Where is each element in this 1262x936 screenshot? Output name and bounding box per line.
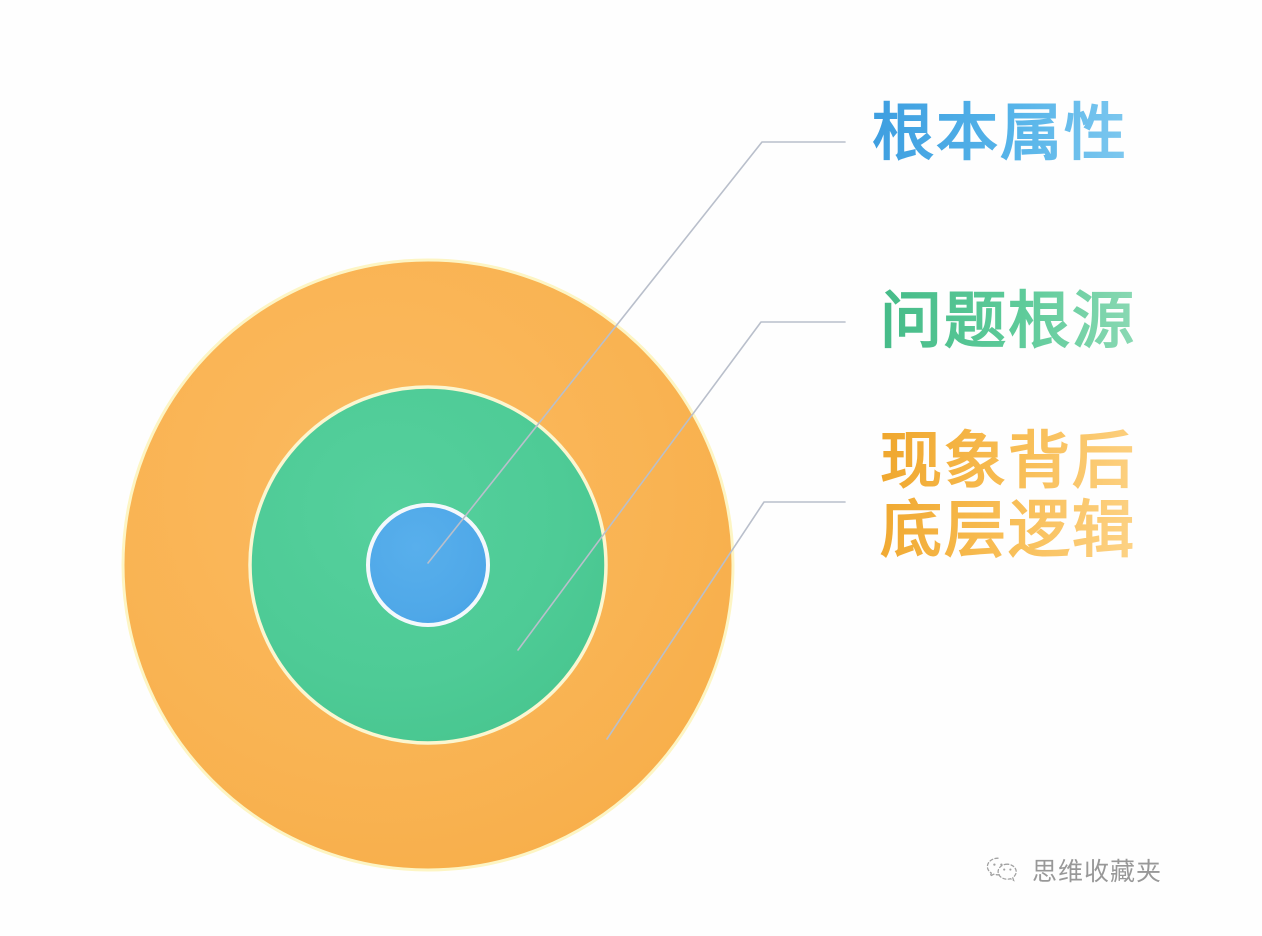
watermark-text: 思维收藏夹 bbox=[1032, 852, 1162, 888]
label-problem-source: 问题根源 bbox=[880, 288, 1136, 357]
diagram-canvas: 根本属性 问题根源 现象背后 底层逻辑 思维收藏夹 bbox=[0, 0, 1262, 936]
wechat-logo-icon bbox=[985, 855, 1019, 885]
ring-inner-root-attribute[interactable] bbox=[368, 505, 488, 625]
watermark: 思维收藏夹 bbox=[985, 852, 1162, 888]
label-root-attribute: 根本属性 bbox=[872, 100, 1128, 169]
label-underlying-logic: 现象背后 底层逻辑 bbox=[880, 428, 1136, 567]
